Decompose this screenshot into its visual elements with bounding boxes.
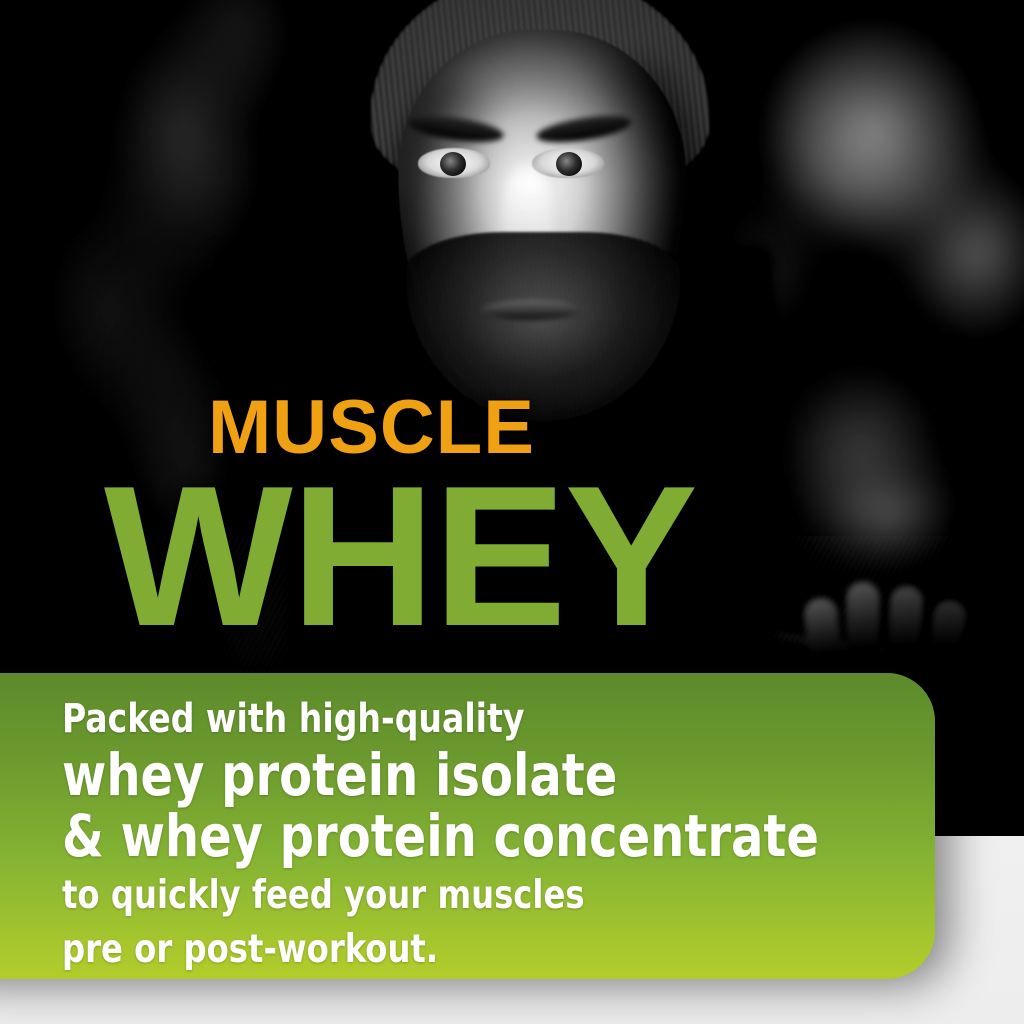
benefits-panel: Packed with high-quality whey protein is… bbox=[0, 673, 935, 979]
benefit-line-4: to quickly feed your muscles bbox=[62, 876, 865, 916]
headline-block: MUSCLE WHEY bbox=[0, 392, 1024, 639]
benefit-line-1: Packed with high-quality bbox=[62, 699, 865, 740]
headline-wordmark: WHEY bbox=[0, 475, 1024, 639]
benefit-line-5: pre or post-workout. bbox=[62, 930, 865, 970]
benefit-line-3: & whey protein concentrate bbox=[62, 807, 865, 866]
benefit-line-2: whey protein isolate bbox=[62, 746, 865, 805]
product-poster: MUSCLE WHEY Packed with high-quality whe… bbox=[0, 0, 1024, 1024]
benefits-copy: Packed with high-quality whey protein is… bbox=[0, 673, 935, 970]
